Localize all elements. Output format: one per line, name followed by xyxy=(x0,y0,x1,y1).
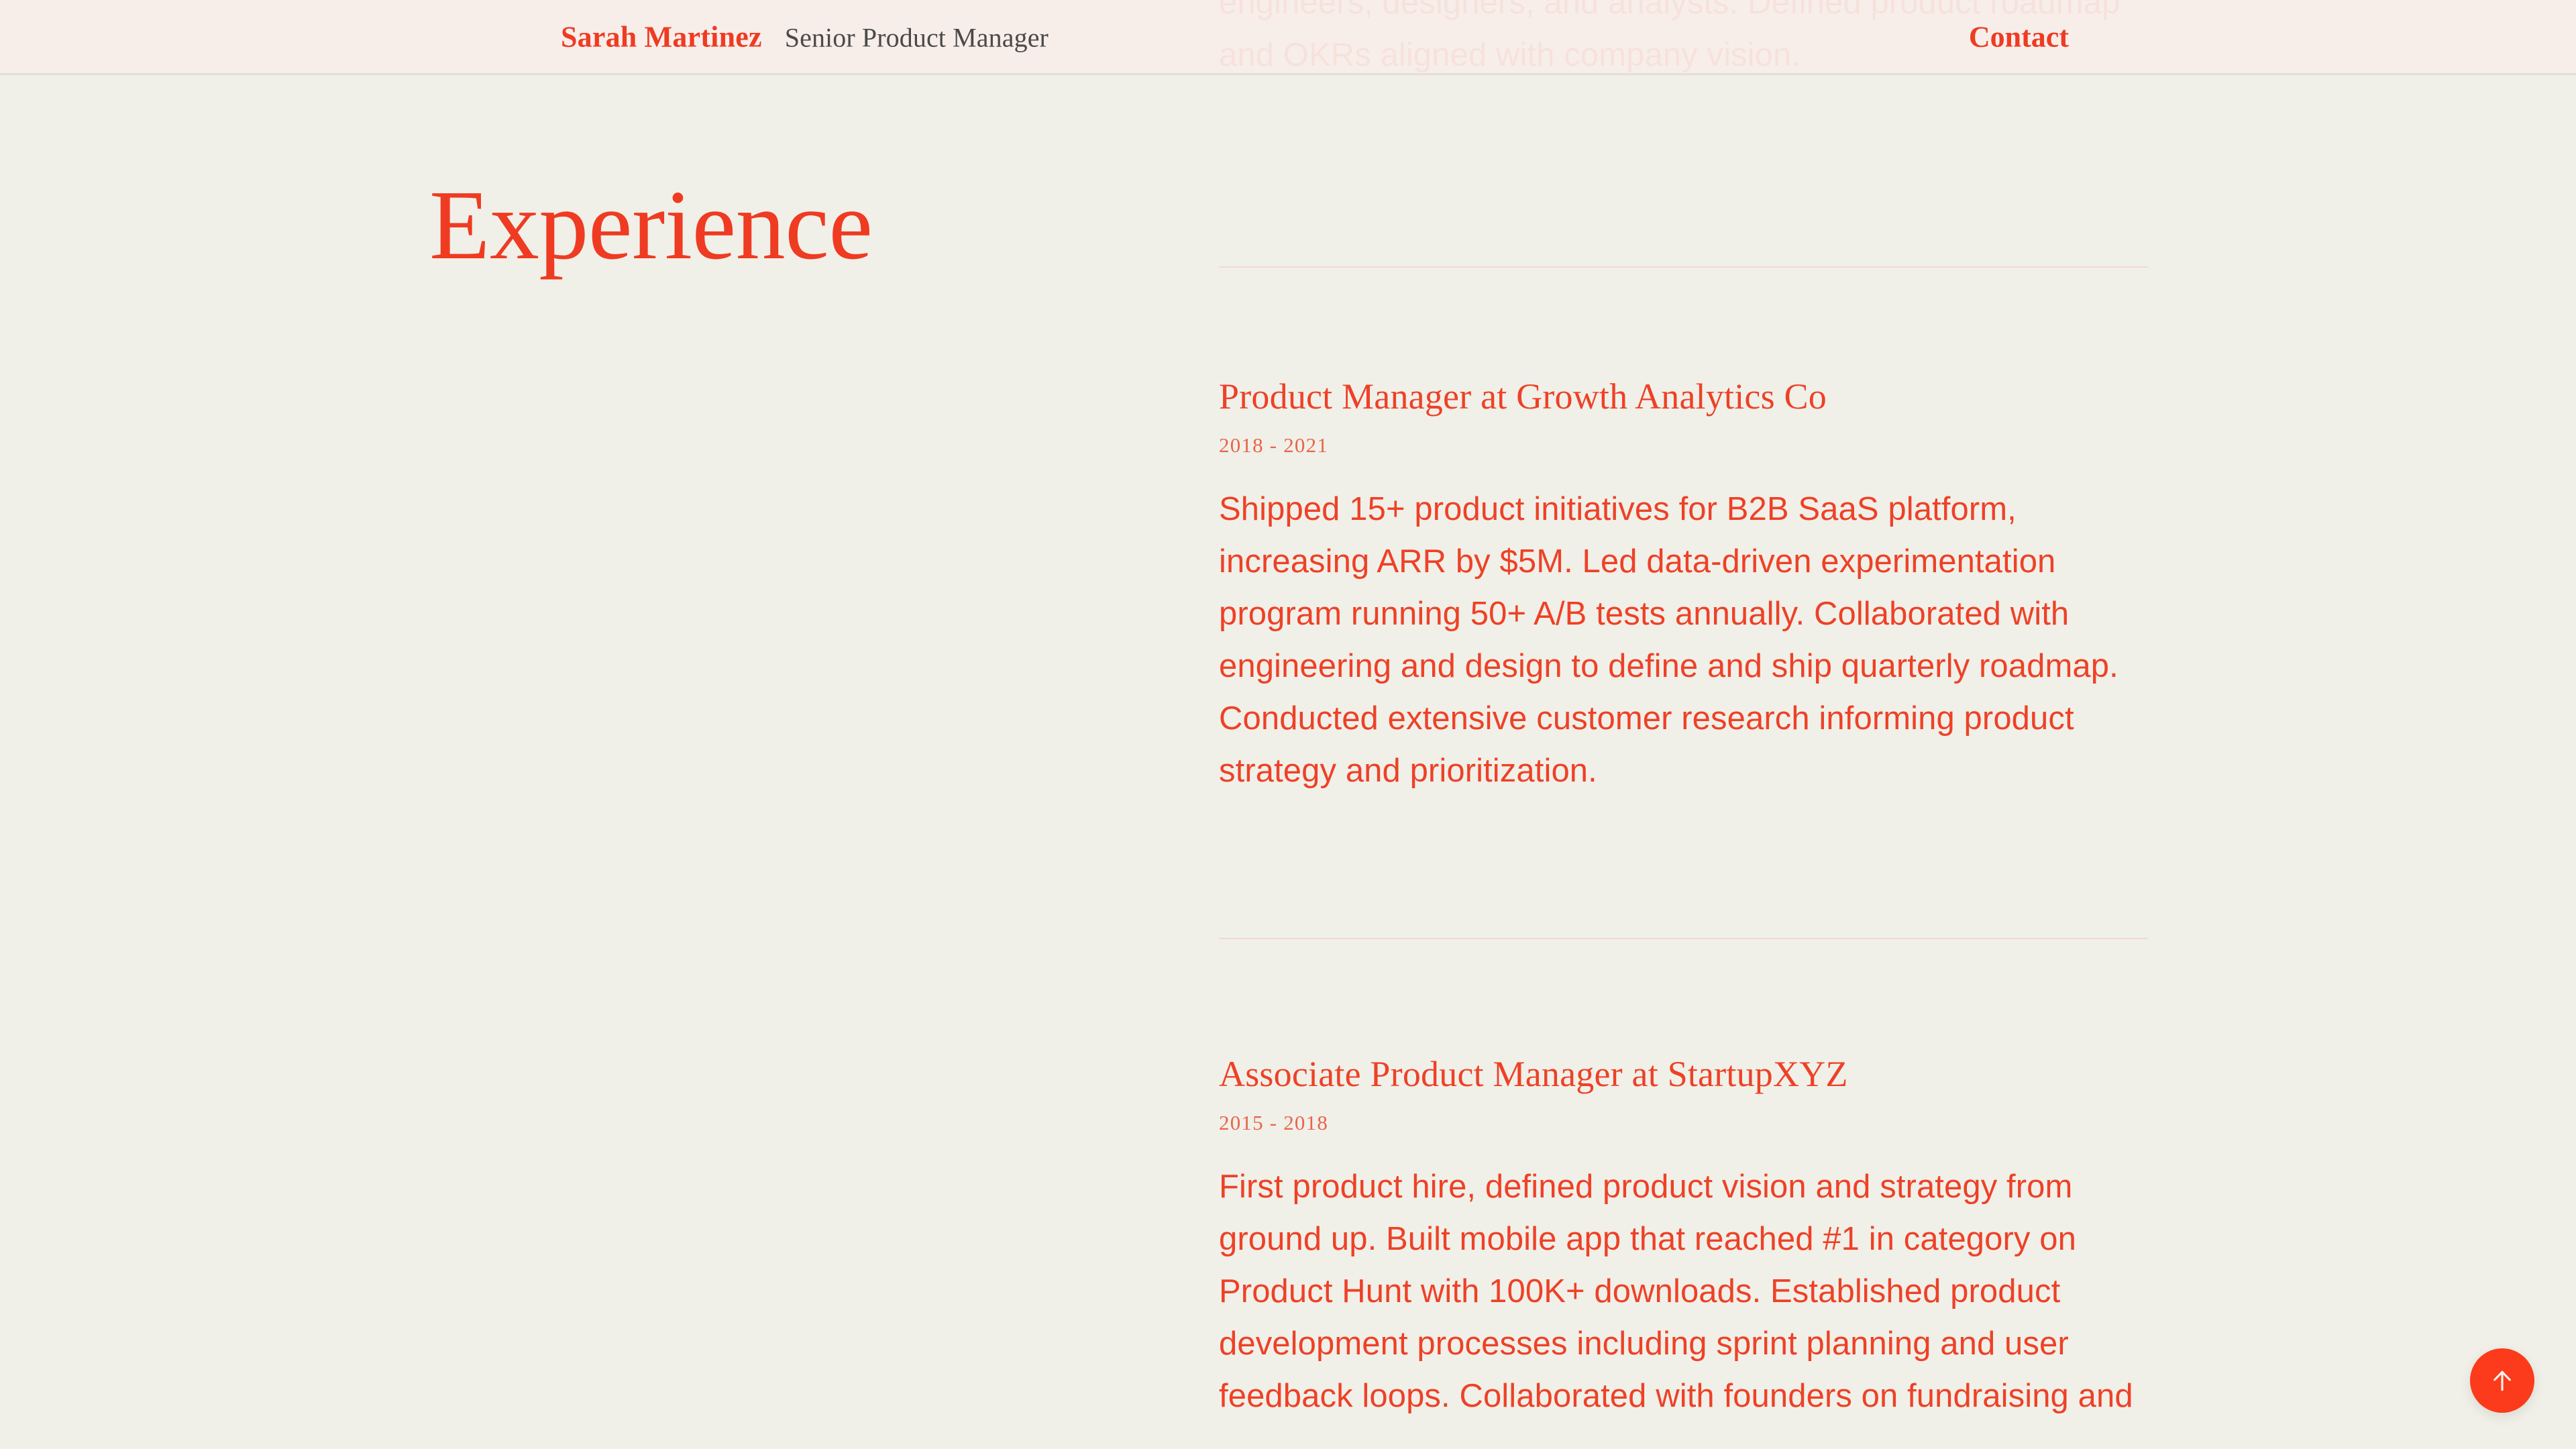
entry-date-range: 2018 - 2021 xyxy=(1219,433,2151,458)
page-title: Experience xyxy=(429,176,1167,275)
brand[interactable]: Sarah Martinez Senior Product Manager xyxy=(561,19,1049,54)
experience-entry: Associate Product Manager at StartupXYZ … xyxy=(1219,1053,2151,1422)
brand-role: Senior Product Manager xyxy=(785,21,1049,53)
scroll-to-top-button[interactable] xyxy=(2470,1348,2534,1413)
arrow-up-icon xyxy=(2487,1366,2517,1395)
brand-name[interactable]: Sarah Martinez xyxy=(561,19,762,54)
entry-role-title: Product Manager at Growth Analytics Co xyxy=(1219,376,2151,417)
entry-role-title: Associate Product Manager at StartupXYZ xyxy=(1219,1053,2151,1095)
nav-link-contact[interactable]: Contact xyxy=(1969,19,2069,54)
site-header: Sarah Martinez Senior Product Manager Co… xyxy=(0,0,2576,75)
entry-divider xyxy=(1219,938,2148,939)
section-heading-column: Experience xyxy=(429,176,1167,275)
entry-date-range: 2015 - 2018 xyxy=(1219,1111,2151,1135)
entry-description: Shipped 15+ product initiatives for B2B … xyxy=(1219,483,2151,797)
entry-description: First product hire, defined product visi… xyxy=(1219,1161,2151,1422)
entry-divider xyxy=(1219,266,2148,268)
experience-entry: Product Manager at Growth Analytics Co 2… xyxy=(1219,376,2151,797)
page-root: engineers, designers, and analysts. Defi… xyxy=(0,0,2576,1449)
